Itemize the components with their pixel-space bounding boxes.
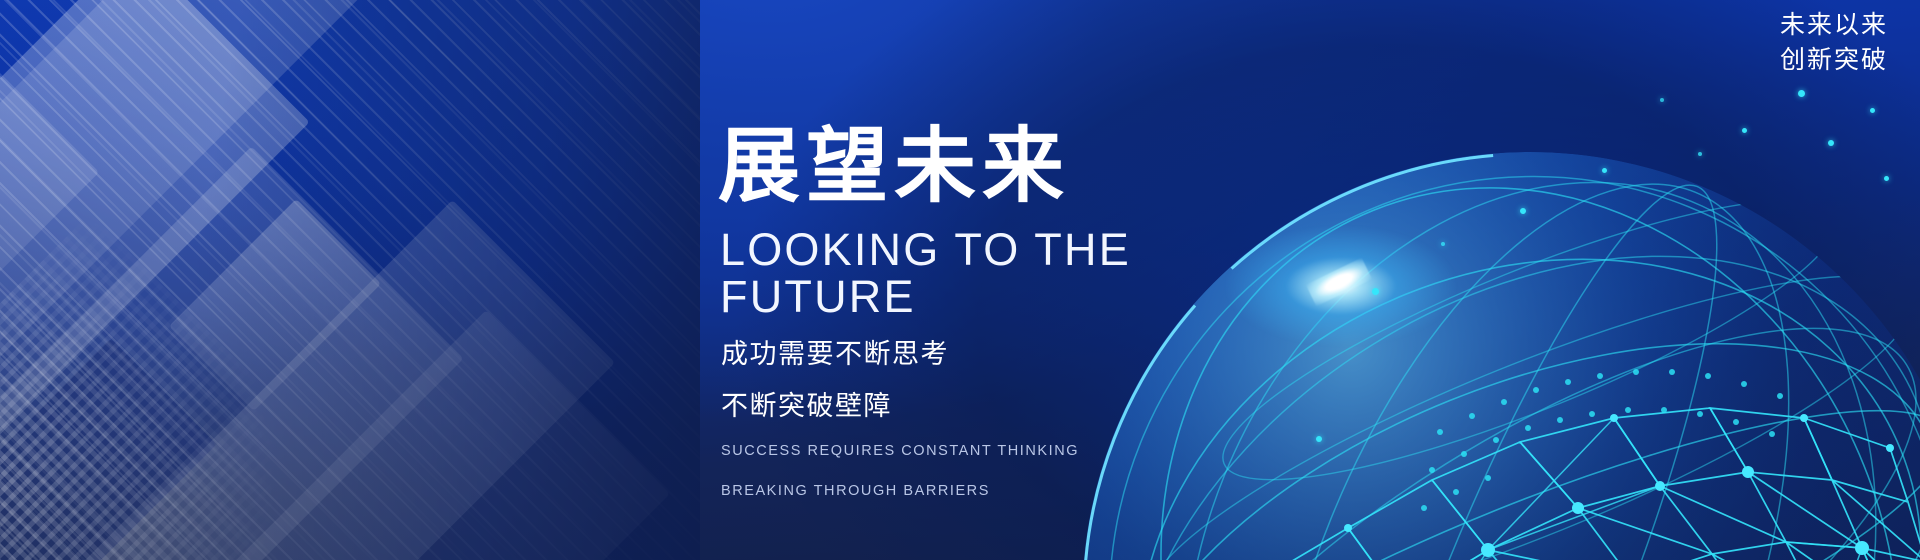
promo-banner: 展望未来 LOOKING TO THE FUTURE 成功需要不断思考 不断突破…: [0, 0, 1920, 560]
geo-fade-overlay: [0, 0, 700, 560]
tagline-en-1: SUCCESS REQUIRES CONSTANT THINKING: [721, 437, 1338, 465]
subtitle-en: LOOKING TO THE FUTURE: [720, 226, 1338, 321]
corner-slogan: 未来以来 创新突破: [1780, 8, 1888, 77]
headline-block: 展望未来 LOOKING TO THE FUTURE 成功需要不断思考 不断突破…: [718, 126, 1338, 506]
corner-slogan-line-1: 未来以来: [1780, 8, 1888, 43]
tagline-cn-2: 不断突破壁障: [721, 387, 1338, 425]
corner-slogan-line-2: 创新突破: [1780, 43, 1888, 78]
tagline-en-2: BREAKING THROUGH BARRIERS: [721, 477, 1338, 505]
diagonal-geometry-icon: [0, 0, 700, 560]
page-title: 展望未来: [718, 126, 1338, 208]
tagline-cn-1: 成功需要不断思考: [721, 335, 1338, 373]
